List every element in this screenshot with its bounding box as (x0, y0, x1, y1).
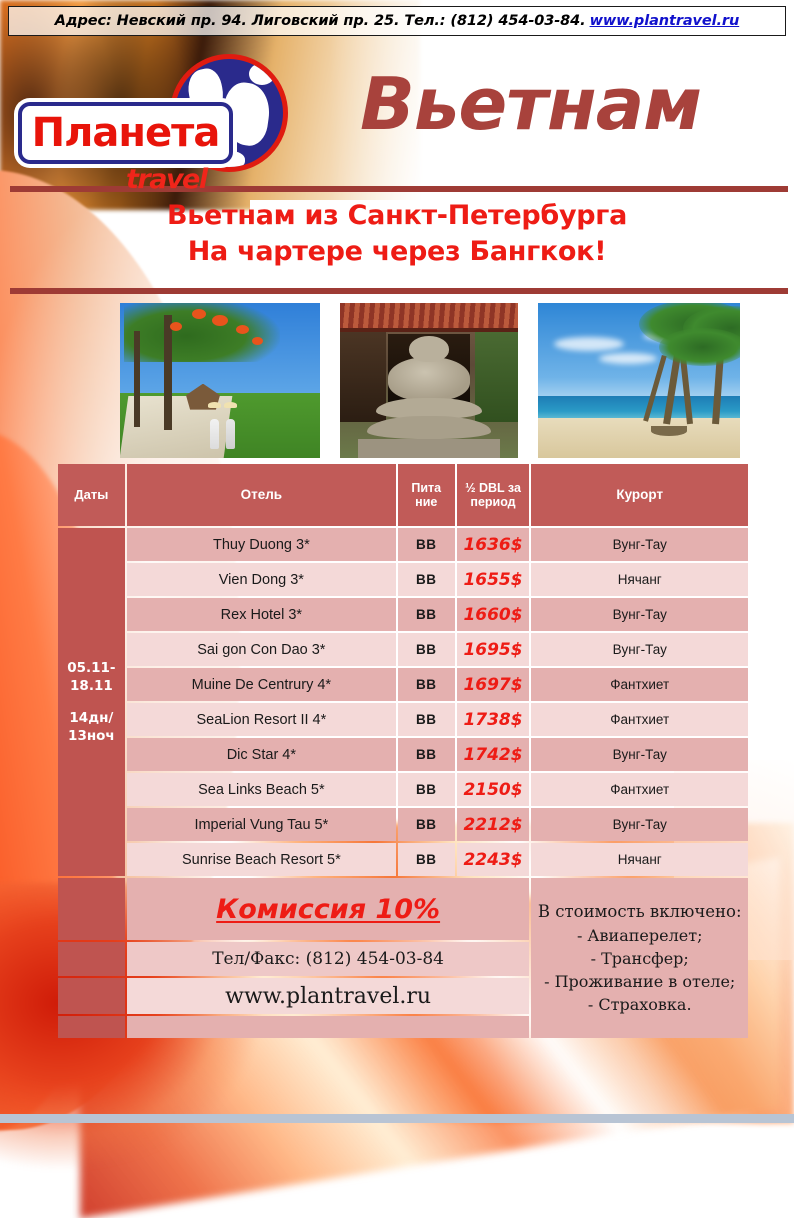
dates-cell: 05.11- 18.11 14дн/ 13ноч (58, 528, 125, 876)
meal-plan: BB (398, 668, 455, 701)
column-header-price-line2: период (457, 495, 530, 509)
hotel-name: Rex Hotel 3* (127, 598, 396, 631)
photo-park-path (120, 303, 320, 458)
meal-plan: BB (398, 563, 455, 596)
meal-plan: BB (398, 528, 455, 561)
dates-duration: 14дн/ 13ноч (58, 709, 125, 745)
meal-plan: BB (398, 773, 455, 806)
company-logo[interactable]: Планета travel (18, 52, 298, 187)
dates-period-line1: 05.11- (58, 659, 125, 677)
meal-plan: BB (398, 598, 455, 631)
resort-name: Вунг-Тау (531, 808, 748, 841)
subtitle-block: Вьетнам из Санкт-Петербурга На чартере ч… (0, 198, 794, 269)
footer-spacer-cell (58, 942, 125, 976)
price-value: 1660$ (457, 598, 530, 631)
included-item: - Трансфер; (531, 947, 748, 970)
resort-name: Нячанг (531, 563, 748, 596)
meal-plan: BB (398, 808, 455, 841)
commission-label: Комиссия 10% (216, 894, 440, 925)
column-header-dates: Даты (58, 464, 125, 526)
included-item: - Авиаперелет; (531, 924, 748, 947)
hotel-name: Sai gon Con Dao 3* (127, 633, 396, 666)
background-bottom-strip (0, 1114, 794, 1123)
table-header: Даты Отель Пита ние ½ DBL за период Куро… (58, 464, 748, 526)
photo-tropical-beach (538, 303, 740, 458)
price-value: 1695$ (457, 633, 530, 666)
page-title: Вьетнам (360, 68, 780, 140)
hotel-name: Dic Star 4* (127, 738, 396, 771)
hotel-name: SeaLion Resort II 4* (127, 703, 396, 736)
hotel-name: Vien Dong 3* (127, 563, 396, 596)
meal-plan: BB (398, 738, 455, 771)
logo-name: Планета (32, 113, 220, 153)
logo-tagline: travel (126, 164, 207, 195)
hotel-name: Imperial Vung Tau 5* (127, 808, 396, 841)
hotel-name: Sea Links Beach 5* (127, 773, 396, 806)
resort-name: Фантхиет (531, 703, 748, 736)
column-header-meal-line1: Пита (398, 481, 455, 495)
hotel-name: Sunrise Beach Resort 5* (127, 843, 396, 876)
subtitle-line-2: На чартере через Бангкок! (0, 234, 794, 270)
included-item: - Проживание в отеле; (531, 970, 748, 993)
column-header-resort: Курорт (531, 464, 748, 526)
footer-spacer-cell (58, 978, 125, 1014)
price-table-container: Даты Отель Пита ние ½ DBL за период Куро… (56, 462, 750, 1040)
photo-buddha-statue (340, 303, 518, 458)
price-value: 2212$ (457, 808, 530, 841)
price-value: 1636$ (457, 528, 530, 561)
price-value: 1697$ (457, 668, 530, 701)
price-value: 1742$ (457, 738, 530, 771)
resort-name: Вунг-Тау (531, 738, 748, 771)
table-header-row: Даты Отель Пита ние ½ DBL за период Куро… (58, 464, 748, 526)
table-row[interactable]: 05.11- 18.11 14дн/ 13ноч Thuy Duong 3* B… (58, 528, 748, 561)
table-row[interactable]: Muine De Centrury 4* BB 1697$ Фантхиет (58, 668, 748, 701)
address-website-link[interactable]: www.plantravel.ru (590, 13, 740, 29)
column-header-meal-line2: ние (398, 495, 455, 509)
price-value: 1655$ (457, 563, 530, 596)
table-row[interactable]: Sunrise Beach Resort 5* BB 2243$ Нячанг (58, 843, 748, 876)
footer-spacer-cell (58, 1016, 125, 1038)
table-row[interactable]: Sai gon Con Dao 3* BB 1695$ Вунг-Тау (58, 633, 748, 666)
dates-period-line2: 18.11 (58, 677, 125, 695)
table-row[interactable]: Vien Dong 3* BB 1655$ Нячанг (58, 563, 748, 596)
resort-name: Вунг-Тау (531, 598, 748, 631)
table-row[interactable]: Imperial Vung Tau 5* BB 2212$ Вунг-Тау (58, 808, 748, 841)
hotel-name: Muine De Centrury 4* (127, 668, 396, 701)
resort-name: Фантхиет (531, 773, 748, 806)
price-table: Даты Отель Пита ние ½ DBL за период Куро… (56, 462, 750, 1040)
column-header-price: ½ DBL за период (457, 464, 530, 526)
price-value: 1738$ (457, 703, 530, 736)
address-label: Адрес: Невский пр. 94. Лиговский пр. 25.… (55, 13, 586, 29)
column-header-meal: Пита ние (398, 464, 455, 526)
footer-blank-cell (127, 1016, 530, 1038)
footer-spacer-cell (58, 878, 125, 940)
dates-duration-line1: 14дн/ (58, 709, 125, 727)
photo-strip (120, 303, 740, 458)
hotel-name: Thuy Duong 3* (127, 528, 396, 561)
table-row[interactable]: SeaLion Resort II 4* BB 1738$ Фантхиет (58, 703, 748, 736)
resort-name: Фантхиет (531, 668, 748, 701)
price-value: 2150$ (457, 773, 530, 806)
table-body: 05.11- 18.11 14дн/ 13ноч Thuy Duong 3* B… (58, 528, 748, 1038)
website-cell[interactable]: www.plantravel.ru (127, 978, 530, 1014)
price-value: 2243$ (457, 843, 530, 876)
column-header-hotel: Отель (127, 464, 396, 526)
included-item: - Страховка. (531, 993, 748, 1016)
table-row[interactable]: Dic Star 4* BB 1742$ Вунг-Тау (58, 738, 748, 771)
meal-plan: BB (398, 633, 455, 666)
resort-name: Вунг-Тау (531, 633, 748, 666)
dates-duration-line2: 13ноч (58, 727, 125, 745)
table-row[interactable]: Sea Links Beach 5* BB 2150$ Фантхиет (58, 773, 748, 806)
logo-nameplate: Планета (18, 102, 233, 164)
address-text: Адрес: Невский пр. 94. Лиговский пр. 25.… (55, 13, 739, 29)
resort-name: Нячанг (531, 843, 748, 876)
globe-landmass-2 (249, 63, 275, 85)
meal-plan: BB (398, 843, 455, 876)
phone-cell: Тел/Факс: (812) 454-03-84 (127, 942, 530, 976)
included-title: В стоимость включено: (531, 900, 748, 924)
column-header-price-line1: ½ DBL за (457, 481, 530, 495)
commission-cell: Комиссия 10% (127, 878, 530, 940)
divider-bottom (10, 288, 788, 294)
included-info-cell: В стоимость включено: - Авиаперелет; - Т… (531, 878, 748, 1038)
subtitle-line-1: Вьетнам из Санкт-Петербурга (0, 198, 794, 234)
footer-row-commission: Комиссия 10% В стоимость включено: - Ави… (58, 878, 748, 940)
table-row[interactable]: Rex Hotel 3* BB 1660$ Вунг-Тау (58, 598, 748, 631)
address-bar: Адрес: Невский пр. 94. Лиговский пр. 25.… (8, 6, 786, 36)
meal-plan: BB (398, 703, 455, 736)
resort-name: Вунг-Тау (531, 528, 748, 561)
dates-period: 05.11- 18.11 (58, 659, 125, 695)
